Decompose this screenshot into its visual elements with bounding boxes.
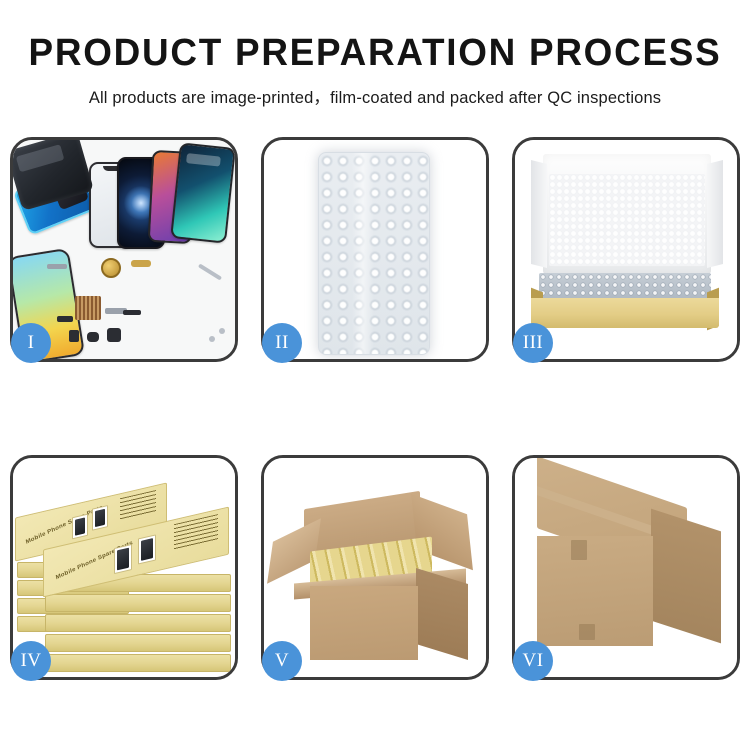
bubble-wrapped-contents	[539, 273, 711, 301]
steps-grid: I II III	[10, 137, 740, 680]
header: PRODUCT PREPARATION PROCESS All products…	[0, 0, 750, 108]
box-print-thumb-rear-1	[72, 514, 88, 540]
box-stack: Mobile Phone Spare Parts Mobile Phone Sp…	[15, 474, 235, 674]
step-image-4: Mobile Phone Spare Parts Mobile Phone Sp…	[13, 458, 235, 677]
box-print-thumb-front-2	[138, 534, 156, 564]
page-subtitle: All products are image-printed，film-coat…	[0, 84, 750, 108]
spare-part-button	[87, 332, 99, 342]
spare-part-flex-gold	[131, 260, 151, 267]
step-panel-6: VI	[512, 455, 740, 680]
page-title: PRODUCT PREPARATION PROCESS	[11, 34, 739, 74]
product-preparation-infographic: PRODUCT PREPARATION PROCESS All products…	[0, 0, 750, 750]
box-print-thumb-rear-2	[92, 505, 108, 531]
gold-coil-part	[101, 258, 121, 278]
step-panel-4: Mobile Phone Spare Parts Mobile Phone Sp…	[10, 455, 238, 680]
step-panel-5: V	[261, 455, 489, 680]
step-panel-3: III	[512, 137, 740, 362]
sealed-carton-front	[537, 536, 653, 646]
stacked-box-slab-6	[45, 594, 231, 612]
sealed-carton-tab-bottom	[579, 624, 595, 640]
spare-part-camera	[107, 328, 121, 342]
screw-1	[209, 336, 215, 342]
step-image-5	[264, 458, 486, 677]
step-badge-5: V	[262, 641, 302, 681]
step-badge-1: I	[11, 323, 51, 363]
spare-part-small-2	[69, 330, 79, 342]
step-image-2	[264, 140, 486, 359]
step-panel-2: II	[261, 137, 489, 362]
foam-liner	[549, 174, 705, 266]
screw-2	[219, 328, 225, 334]
step-badge-4: IV	[11, 641, 51, 681]
step-badge-2: II	[262, 323, 302, 363]
phone-screen-teal	[170, 142, 235, 243]
sealed-carton-tab-top	[571, 540, 587, 560]
step-image-1	[13, 140, 235, 359]
inner-box-front-panel	[531, 298, 719, 328]
stacked-box-slab-9	[45, 654, 231, 672]
bubble-wrap-sheen	[352, 153, 374, 354]
box-print-textlines-front	[174, 514, 218, 550]
box-print-thumb-front-1	[114, 544, 132, 574]
spare-part-connector	[47, 264, 67, 269]
spare-part-cable	[123, 310, 141, 315]
stacked-box-slab-8	[45, 634, 231, 652]
step-badge-6: VI	[513, 641, 553, 681]
bubble-wrap-package	[318, 152, 430, 355]
spare-part-small-1	[57, 316, 73, 322]
screwdriver-tool	[198, 263, 222, 280]
carton-side-panel	[416, 568, 468, 660]
sealed-carton-side	[651, 509, 721, 644]
circuit-board-chip	[75, 296, 101, 320]
box-print-textlines-rear	[120, 490, 156, 520]
step-image-3	[515, 140, 737, 359]
carton-front-panel	[310, 586, 418, 660]
stacked-box-slab-7	[45, 614, 231, 632]
step-badge-3: III	[513, 323, 553, 363]
step-panel-1: I	[10, 137, 238, 362]
step-image-6	[515, 458, 737, 677]
